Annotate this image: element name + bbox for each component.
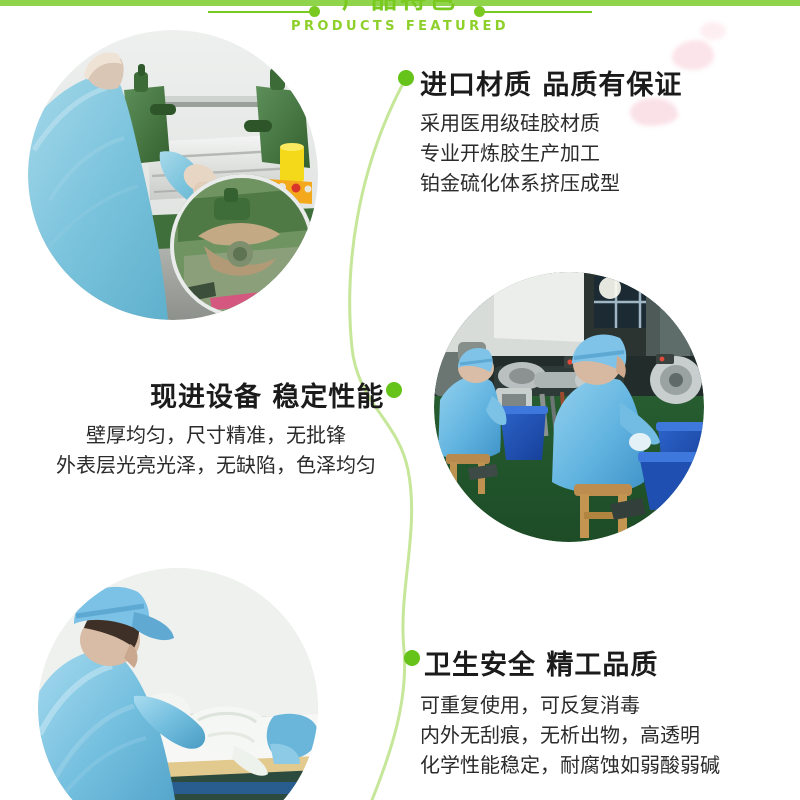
- section-body-line: 采用医用级硅胶材质: [420, 108, 620, 138]
- bullet-hygiene-safety: [404, 650, 420, 666]
- product-features-infographic: 产品特色 PRODUCTS FEATURED: [0, 0, 800, 800]
- header: 产品特色 PRODUCTS FEATURED: [0, 0, 800, 42]
- header-title-zh: 产品特色: [0, 0, 800, 13]
- section-body-line: 铂金硫化体系挤压成型: [420, 168, 620, 198]
- photo-cleanroom-workers: [434, 272, 704, 542]
- bullet-imported-material: [398, 70, 414, 86]
- section-body-line: 内外无刮痕，无析出物，高透明: [420, 720, 720, 750]
- pink-blob-decoration: [630, 98, 678, 126]
- section-title-imported-material: 进口材质 品质有保证: [420, 63, 682, 102]
- section-body-line: 外表层光亮光泽，无缺陷，色泽均匀: [46, 450, 386, 480]
- section-body-line: 专业开炼胶生产加工: [420, 138, 620, 168]
- bullet-advanced-equipment: [386, 382, 402, 398]
- section-title-hygiene-safety: 卫生安全 精工品质: [424, 643, 658, 682]
- section-body-line: 可重复使用，可反复消毒: [420, 690, 720, 720]
- section-body-advanced-equipment: 壁厚均匀，尺寸精准，无批锋 外表层光亮光泽，无缺陷，色泽均匀: [46, 420, 386, 480]
- section-body-line: 化学性能稳定，耐腐蚀如弱酸弱碱: [420, 750, 720, 780]
- section-body-hygiene-safety: 可重复使用，可反复消毒 内外无刮痕，无析出物，高透明 化学性能稳定，耐腐蚀如弱酸…: [420, 690, 720, 780]
- photo-packing-station: [38, 568, 318, 800]
- section-body-line: 壁厚均匀，尺寸精准，无批锋: [46, 420, 386, 450]
- photo-rubber-mill: [28, 30, 318, 320]
- section-title-advanced-equipment: 现进设备 稳定性能: [150, 375, 384, 414]
- header-title-en: PRODUCTS FEATURED: [0, 19, 800, 35]
- section-body-imported-material: 采用医用级硅胶材质 专业开炼胶生产加工 铂金硫化体系挤压成型: [420, 108, 620, 198]
